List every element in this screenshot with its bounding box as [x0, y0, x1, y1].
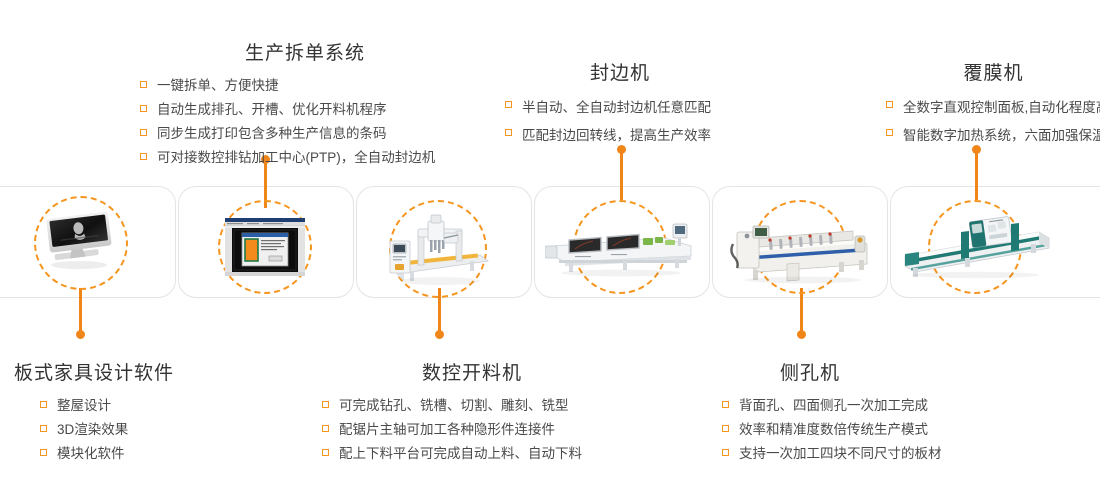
connector-stem-design-software	[79, 288, 82, 334]
list-item: 整屋设计	[40, 395, 314, 417]
bullet-text: 模块化软件	[57, 446, 125, 461]
bullet-text: 3D渲染效果	[57, 422, 128, 437]
bullet-text: 配锯片主轴可加工各种隐形件连接件	[339, 422, 555, 437]
infographic-canvas: 生产拆单系统 一键拆单、方便快捷 自动生成排孔、开槽、优化开料机程序 同步生成打…	[0, 0, 1100, 495]
list-item: 半自动、全自动封边机任意匹配	[505, 95, 735, 121]
bullet-text: 同步生成打印包含多种生产信息的条码	[157, 126, 387, 141]
list-item: 同步生成打印包含多种生产信息的条码	[140, 123, 470, 145]
node-circle-side-drill[interactable]	[753, 200, 847, 294]
checkbox-square-icon	[505, 129, 512, 136]
checkbox-square-icon	[140, 81, 147, 88]
node-circle-edge-banding[interactable]	[573, 200, 667, 294]
checkbox-square-icon	[505, 101, 512, 108]
bullet-list-design-software: 整屋设计 3D渲染效果 模块化软件	[14, 395, 314, 465]
checkbox-square-icon	[140, 129, 147, 136]
bullet-text: 效率和精准度数倍传统生产模式	[739, 422, 928, 437]
bullet-text: 一键拆单、方便快捷	[157, 78, 279, 93]
checkbox-square-icon	[722, 425, 729, 432]
checkbox-square-icon	[140, 153, 147, 160]
bullet-text: 智能数字加热系统，六面加强保温	[903, 128, 1100, 143]
section-title-side-drill: 侧孔机	[700, 358, 1000, 385]
bullet-text: 支持一次加工四块不同尺寸的板材	[739, 446, 942, 461]
checkbox-square-icon	[722, 449, 729, 456]
bullet-text: 可完成钻孔、铣槽、切割、雕刻、铣型	[339, 398, 569, 413]
checkbox-square-icon	[40, 425, 47, 432]
section-title-design-software: 板式家具设计软件	[14, 358, 314, 385]
checkbox-square-icon	[40, 449, 47, 456]
bullet-text: 可对接数控排钻加工中心(PTP)，全自动封边机	[157, 150, 435, 165]
text-block-edge-banding: 封边机 半自动、全自动封边机任意匹配 匹配封边回转线，提高生产效率	[505, 58, 735, 151]
list-item: 全数字直观控制面板,自动化程度高	[886, 95, 1100, 121]
connector-stem-edge-banding	[620, 150, 623, 200]
list-item: 效率和精准度数倍传统生产模式	[722, 419, 1000, 441]
node-circle-laminating[interactable]	[928, 200, 1022, 294]
bullet-list-order-splitting: 一键拆单、方便快捷 自动生成排孔、开槽、优化开料机程序 同步生成打印包含多种生产…	[140, 75, 470, 169]
bullet-text: 匹配封边回转线，提高生产效率	[522, 128, 711, 143]
list-item: 匹配封边回转线，提高生产效率	[505, 123, 735, 149]
bullet-text: 半自动、全自动封边机任意匹配	[522, 100, 711, 115]
list-item: 一键拆单、方便快捷	[140, 75, 470, 97]
list-item: 模块化软件	[40, 443, 314, 465]
bullet-text: 配上下料平台可完成自动上料、自动下料	[339, 446, 582, 461]
list-item: 支持一次加工四块不同尺寸的板材	[722, 443, 1000, 465]
text-block-design-software: 板式家具设计软件 整屋设计 3D渲染效果 模块化软件	[14, 358, 314, 467]
list-item: 智能数字加热系统，六面加强保温	[886, 123, 1100, 149]
list-item: 可对接数控排钻加工中心(PTP)，全自动封边机	[140, 147, 470, 169]
imac-monitor-icon	[43, 211, 119, 275]
text-block-order-splitting: 生产拆单系统 一键拆单、方便快捷 自动生成排孔、开槽、优化开料机程序 同步生成打…	[140, 38, 470, 171]
checkbox-square-icon	[322, 449, 329, 456]
connector-dot-side-drill	[797, 330, 806, 339]
checkbox-square-icon	[40, 401, 47, 408]
bullet-list-cnc-cutting: 可完成钻孔、铣槽、切割、雕刻、铣型 配锯片主轴可加工各种隐形件连接件 配上下料平…	[322, 395, 622, 465]
connector-stem-side-drill	[800, 288, 803, 334]
checkbox-square-icon	[886, 101, 893, 108]
section-title-laminating: 覆膜机	[886, 58, 1100, 85]
text-block-cnc-cutting: 数控开料机 可完成钻孔、铣槽、切割、雕刻、铣型 配锯片主轴可加工各种隐形件连接件…	[322, 358, 622, 467]
checkbox-square-icon	[722, 401, 729, 408]
section-title-order-splitting: 生产拆单系统	[140, 38, 470, 65]
section-title-edge-banding: 封边机	[505, 58, 735, 85]
bullet-list-laminating: 全数字直观控制面板,自动化程度高 智能数字加热系统，六面加强保温	[886, 95, 1100, 149]
checkbox-square-icon	[322, 401, 329, 408]
section-title-cnc-cutting: 数控开料机	[322, 358, 622, 385]
bullet-text: 背面孔、四面侧孔一次加工完成	[739, 398, 928, 413]
node-circle-cnc-cutting[interactable]	[389, 200, 487, 298]
list-item: 自动生成排孔、开槽、优化开料机程序	[140, 99, 470, 121]
cnc-router-icon	[384, 211, 492, 287]
list-item: 可完成钻孔、铣槽、切割、雕刻、铣型	[322, 395, 622, 417]
connector-stem-laminating	[975, 150, 978, 200]
list-item: 配锯片主轴可加工各种隐形件连接件	[322, 419, 622, 441]
node-circle-order-splitting[interactable]	[218, 200, 312, 294]
cad-software-screen-icon	[225, 218, 305, 276]
checkbox-square-icon	[322, 425, 329, 432]
checkbox-square-icon	[140, 105, 147, 112]
node-circle-design-software[interactable]	[34, 196, 128, 290]
connector-dot-cnc-cutting	[435, 330, 444, 339]
list-item: 背面孔、四面侧孔一次加工完成	[722, 395, 1000, 417]
text-block-side-drill: 侧孔机 背面孔、四面侧孔一次加工完成 效率和精准度数倍传统生产模式 支持一次加工…	[700, 358, 1000, 467]
bullet-list-side-drill: 背面孔、四面侧孔一次加工完成 效率和精准度数倍传统生产模式 支持一次加工四块不同…	[700, 395, 1000, 465]
bullet-text: 整屋设计	[57, 398, 111, 413]
list-item: 配上下料平台可完成自动上料、自动下料	[322, 443, 622, 465]
bullet-text: 自动生成排孔、开槽、优化开料机程序	[157, 102, 387, 117]
text-block-laminating: 覆膜机 全数字直观控制面板,自动化程度高 智能数字加热系统，六面加强保温	[886, 58, 1100, 151]
list-item: 3D渲染效果	[40, 419, 314, 441]
checkbox-square-icon	[886, 129, 893, 136]
connector-dot-design-software	[76, 330, 85, 339]
bullet-list-edge-banding: 半自动、全自动封边机任意匹配 匹配封边回转线，提高生产效率	[505, 95, 735, 149]
bullet-text: 全数字直观控制面板,自动化程度高	[903, 100, 1100, 115]
